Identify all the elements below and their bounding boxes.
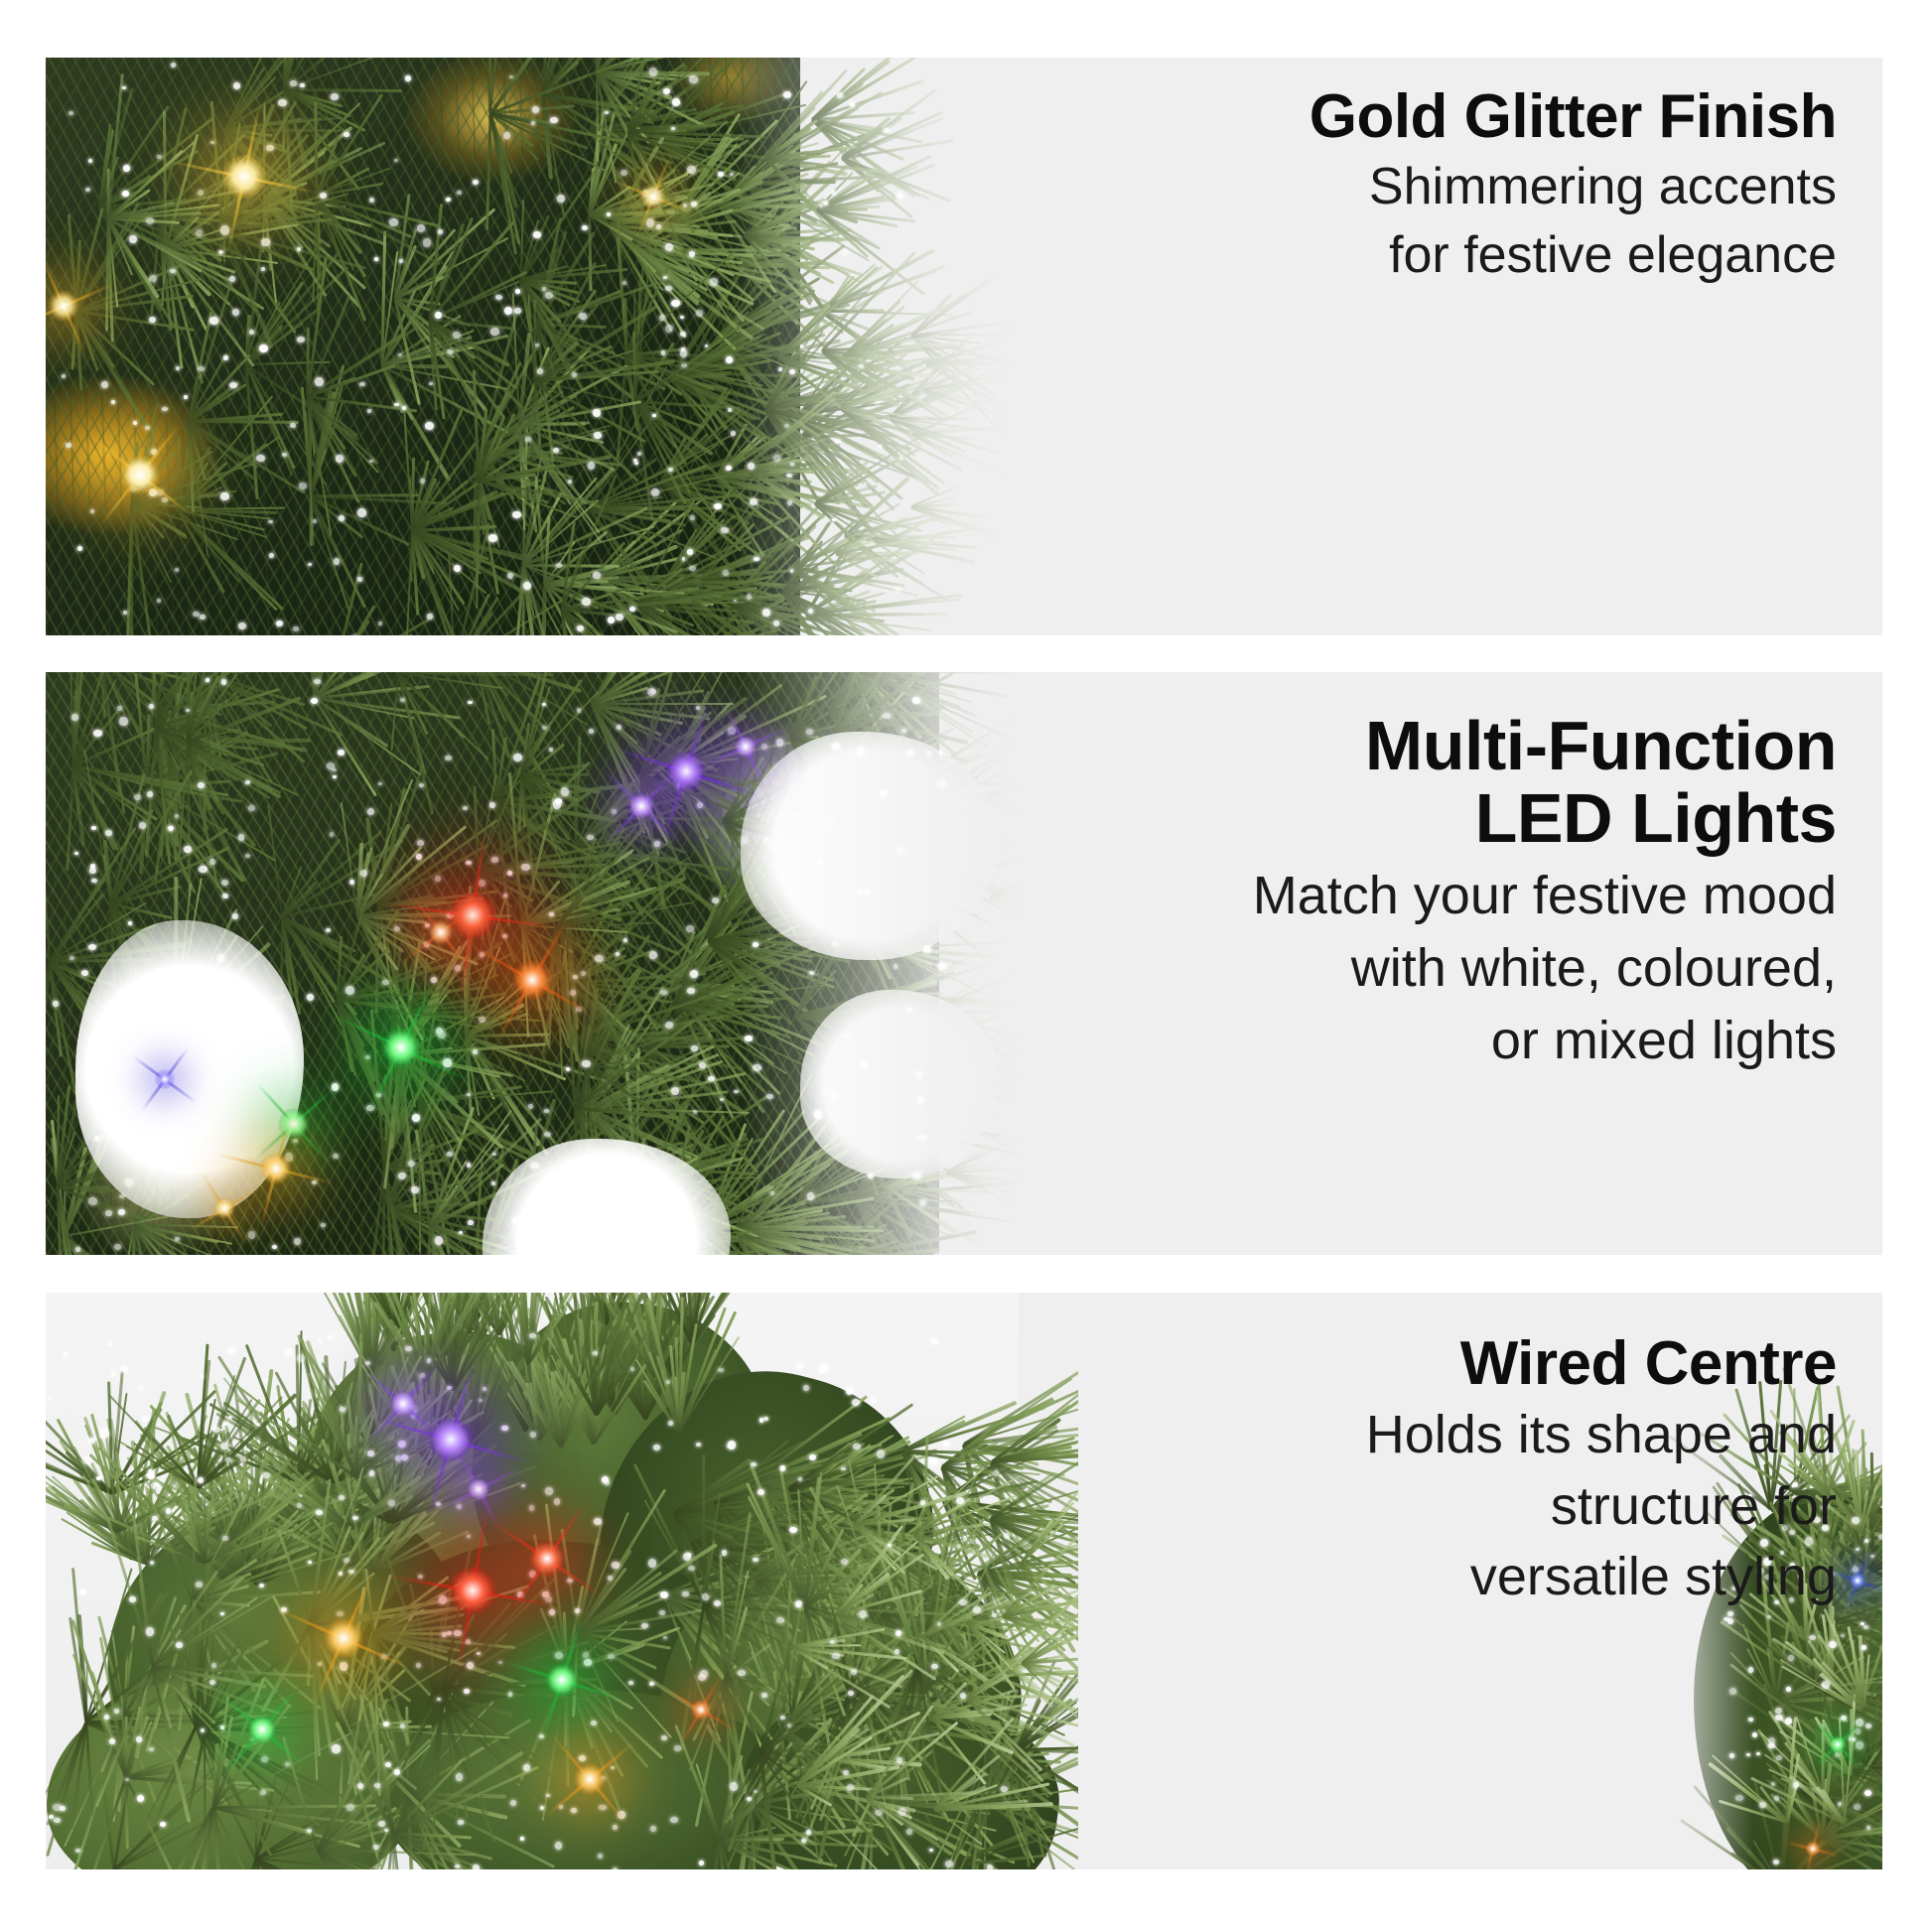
feature-body-line-1-1: Shimmering accents bbox=[1310, 157, 1837, 217]
tree-top-art bbox=[46, 1293, 1078, 1869]
feature-body-line-3-1: Holds its shape and bbox=[1366, 1404, 1837, 1466]
feature-panel-wired-centre: Wired Centre Holds its shape and structu… bbox=[46, 1293, 1882, 1869]
photo-fade-edge bbox=[731, 58, 1058, 635]
feature-body-line-2-2: with white, coloured, bbox=[1253, 937, 1837, 1000]
feature-body-line-2-3: or mixed lights bbox=[1253, 1010, 1837, 1072]
feature-heading-2-1: Multi-Function bbox=[1253, 710, 1837, 782]
feature-body-line-2-1: Match your festive mood bbox=[1253, 865, 1837, 927]
feature-panel-multi-function-led-lights: Multi-Function LED Lights Match your fes… bbox=[46, 672, 1882, 1255]
feature-panel-gold-glitter-finish: Gold Glitter Finish Shimmering accents f… bbox=[46, 58, 1882, 635]
feature-heading-1: Gold Glitter Finish bbox=[1310, 85, 1837, 149]
product-photo-led-lights bbox=[46, 672, 1068, 1255]
photo-fade-edge bbox=[741, 672, 1068, 1255]
infographic-sheet: Gold Glitter Finish Shimmering accents f… bbox=[0, 0, 1932, 1932]
feature-body-line-1-2: for festive elegance bbox=[1310, 225, 1837, 286]
product-photo-wired-centre bbox=[46, 1293, 1078, 1869]
feature-heading-2-2: LED Lights bbox=[1253, 782, 1837, 855]
feature-body-line-3-3: versatile styling bbox=[1366, 1546, 1837, 1608]
feature-heading-3: Wired Centre bbox=[1366, 1332, 1837, 1396]
product-photo-gold-glitter bbox=[46, 58, 1058, 635]
feature-text-block-2: Multi-Function LED Lights Match your fes… bbox=[1253, 710, 1837, 1072]
feature-text-block-3: Wired Centre Holds its shape and structu… bbox=[1366, 1332, 1837, 1608]
feature-text-block-1: Gold Glitter Finish Shimmering accents f… bbox=[1310, 85, 1837, 286]
feature-body-line-3-2: structure for bbox=[1366, 1475, 1837, 1538]
